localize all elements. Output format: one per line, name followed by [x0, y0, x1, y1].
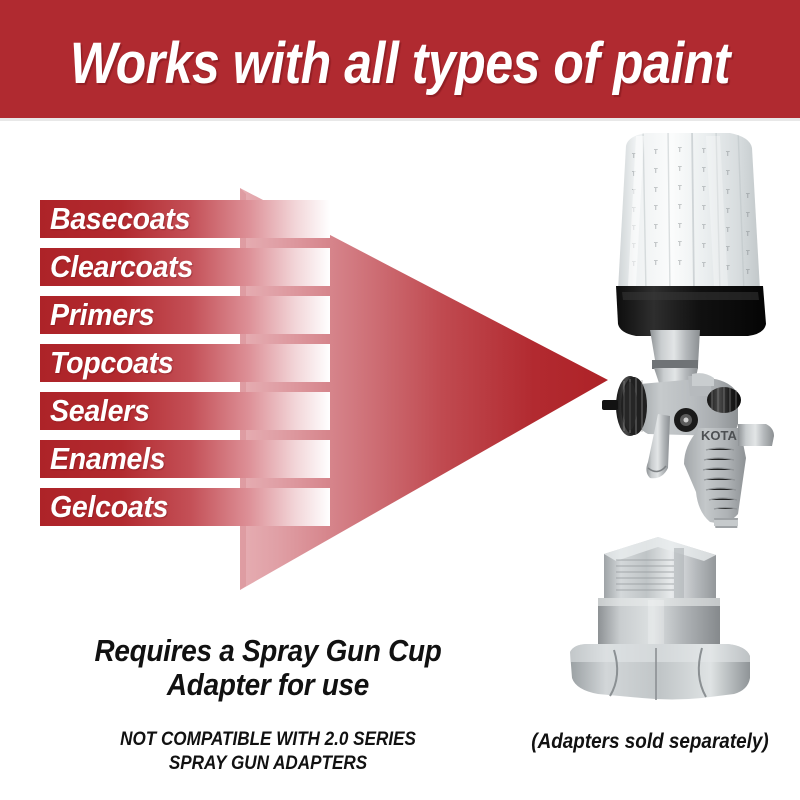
paint-type-bar: Gelcoats — [40, 488, 330, 526]
paint-type-label: Basecoats — [50, 200, 190, 238]
svg-text:T: T — [701, 186, 706, 193]
svg-text:T: T — [725, 227, 730, 234]
svg-text:T: T — [677, 260, 682, 267]
svg-text:T: T — [745, 269, 750, 276]
svg-text:T: T — [653, 260, 658, 267]
svg-text:T: T — [677, 241, 682, 248]
page-title: Works with all types of paint — [56, 30, 744, 97]
adapter-body — [598, 598, 720, 650]
requires-line-2: Adapter for use — [70, 668, 466, 702]
svg-text:T: T — [725, 151, 730, 158]
svg-text:T: T — [745, 250, 750, 257]
compatibility-notice: NOT COMPATIBLE WITH 2.0 SERIES SPRAY GUN… — [48, 728, 488, 776]
svg-text:T: T — [701, 243, 706, 250]
svg-text:T: T — [745, 193, 750, 200]
svg-text:T: T — [677, 147, 682, 154]
gun-brand-mark: KOTA — [701, 428, 737, 443]
svg-text:T: T — [677, 223, 682, 230]
svg-text:T: T — [725, 170, 730, 177]
paint-type-bar: Sealers — [40, 392, 330, 430]
svg-text:T: T — [677, 185, 682, 192]
fan-control-knob — [707, 387, 741, 413]
adapter-hex-top — [604, 537, 716, 602]
infographic-page: Works with all types of paint Basecoats … — [0, 0, 800, 800]
paint-type-bar: Topcoats — [40, 344, 330, 382]
air-inlet-boss — [738, 424, 774, 446]
paint-type-bar: Enamels — [40, 440, 330, 478]
cup-collar-ring — [616, 286, 766, 336]
svg-text:T: T — [653, 205, 658, 212]
cup-adapter-image — [552, 528, 767, 718]
svg-text:T: T — [653, 224, 658, 231]
svg-text:T: T — [653, 187, 658, 194]
compatibility-line-1: NOT COMPATIBLE WITH 2.0 SERIES — [70, 728, 466, 752]
paint-type-label: Sealers — [50, 392, 150, 430]
paint-type-label: Clearcoats — [50, 248, 193, 286]
svg-text:T: T — [653, 242, 658, 249]
paint-cup: TTT TT TTT TT TTT TTT TTT TTT TTT TTT TT… — [618, 128, 760, 293]
compatibility-line-2: SPRAY GUN ADAPTERS — [70, 752, 466, 776]
nozzle-tip — [602, 400, 618, 410]
svg-text:T: T — [745, 212, 750, 219]
adapter-sold-separately-caption: (Adapters sold separately) — [515, 730, 785, 754]
svg-text:T: T — [725, 208, 730, 215]
paint-types-list: Basecoats Clearcoats Primers Topcoats Se… — [40, 200, 330, 536]
paint-type-label: Enamels — [50, 440, 165, 478]
svg-text:T: T — [653, 168, 658, 175]
svg-text:T: T — [677, 166, 682, 173]
header-divider — [0, 118, 800, 121]
requires-adapter-notice: Requires a Spray Gun Cup Adapter for use — [48, 634, 488, 702]
svg-text:T: T — [677, 204, 682, 211]
svg-text:T: T — [701, 167, 706, 174]
gun-handle: KOTA — [684, 428, 747, 523]
air-cap-ring — [602, 376, 647, 436]
svg-text:T: T — [701, 224, 706, 231]
paint-type-label: Topcoats — [50, 344, 174, 382]
fluid-adjust-knob — [674, 408, 698, 432]
paint-type-label: Primers — [50, 296, 154, 334]
paint-type-bar: Primers — [40, 296, 330, 334]
svg-text:T: T — [701, 148, 706, 155]
svg-text:T: T — [701, 205, 706, 212]
paint-type-bar: Clearcoats — [40, 248, 330, 286]
svg-text:T: T — [725, 189, 730, 196]
paint-type-bar: Basecoats — [40, 200, 330, 238]
svg-text:T: T — [701, 262, 706, 269]
svg-text:T: T — [653, 149, 658, 156]
svg-text:T: T — [745, 231, 750, 238]
paint-type-label: Gelcoats — [50, 488, 168, 526]
air-fitting — [714, 518, 738, 528]
requires-line-1: Requires a Spray Gun Cup — [70, 634, 466, 668]
adapter-base-flange — [570, 644, 750, 700]
spray-gun-image: TTT TT TTT TT TTT TTT TTT TTT TTT TTT TT… — [588, 128, 800, 528]
